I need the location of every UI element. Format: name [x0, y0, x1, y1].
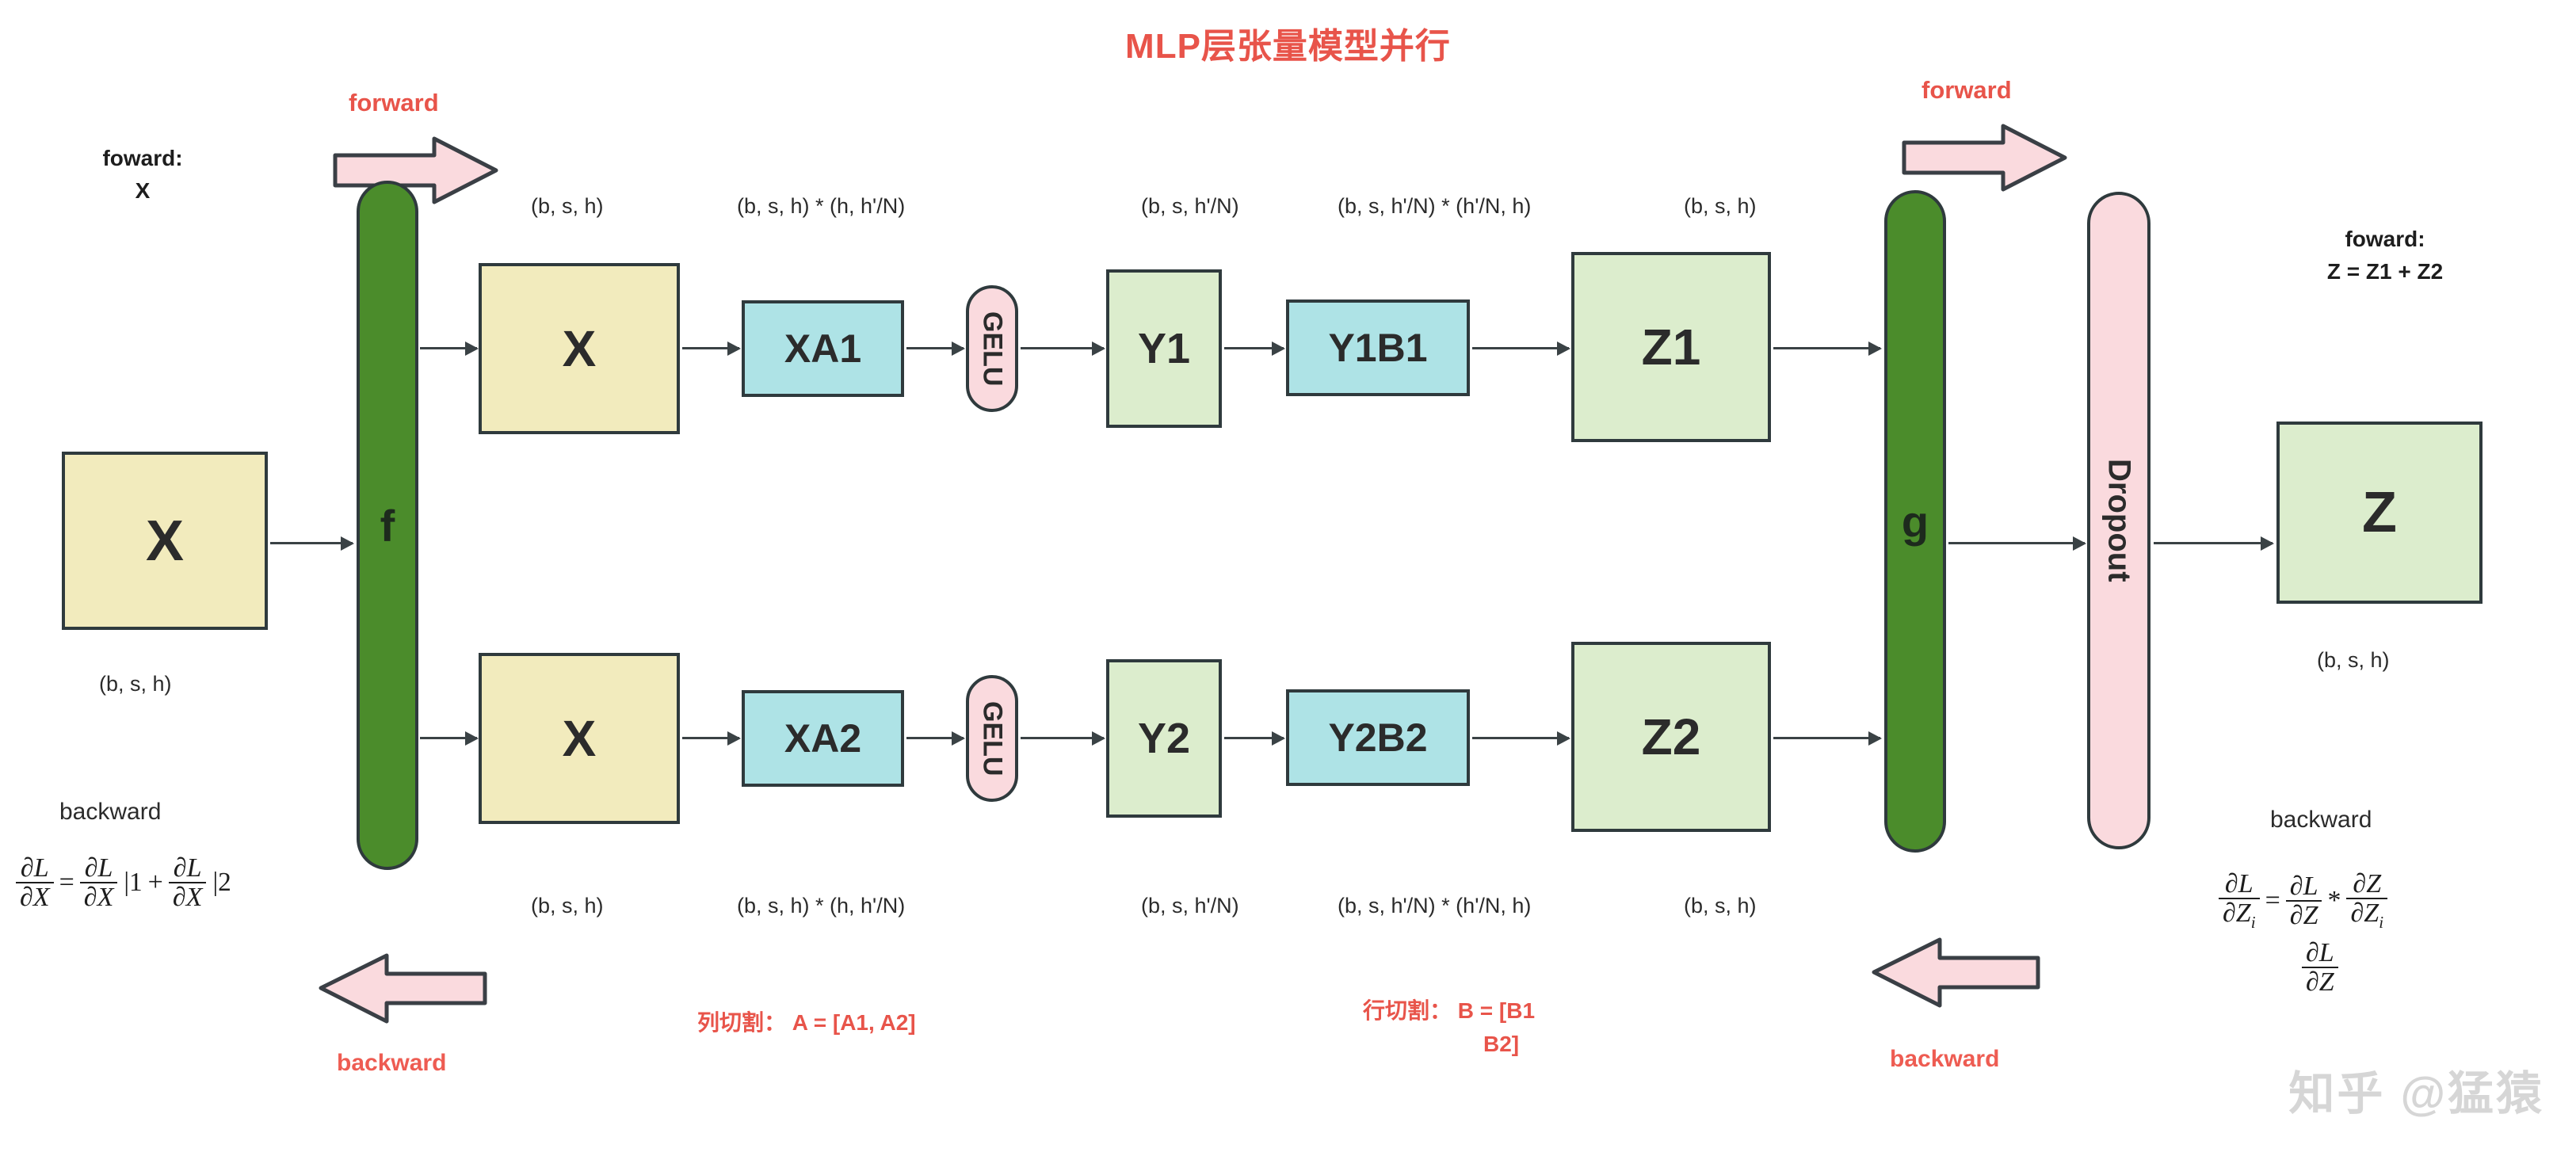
formula-left-lhs-num: ∂L — [17, 854, 53, 882]
arrow-row2-gelu-to-y2 — [1021, 737, 1104, 739]
arrow-row1-xa1-to-gelu — [906, 347, 964, 349]
formula-left-term1: ∂L ∂X — [80, 854, 118, 912]
formula-right-t2-den: ∂Z — [2350, 898, 2379, 928]
page-title: MLP层张量模型并行 — [0, 17, 2576, 68]
node-row2-x[interactable]: X — [479, 653, 680, 824]
shape-label-output-z: (b, s, h) — [2317, 648, 2390, 673]
node-row2-z[interactable]: Z2 — [1571, 642, 1771, 832]
shape-label-top-0: (b, s, h) — [531, 194, 604, 219]
backward-arrow-left-icon — [317, 951, 487, 1026]
node-row1-x[interactable]: X — [479, 263, 680, 434]
forward-label-right: forward — [1922, 76, 2012, 105]
row1-gelu-label: GELU — [977, 311, 1008, 386]
arrow-row1-x-to-xa1 — [682, 347, 739, 349]
node-f-gate[interactable]: f — [357, 181, 418, 870]
forward-output-note-line2: Z = Z1 + Z2 — [2254, 256, 2516, 288]
column-split-note: 列切割： A = [A1, A2] — [697, 1006, 916, 1040]
formula-right-lhs-num: ∂L — [2221, 870, 2257, 898]
formula-right: ∂L ∂Zi = ∂L ∂Z * ∂Z ∂Zi — [2219, 870, 2387, 932]
formula-right-t1-den: ∂Z — [2286, 900, 2322, 929]
forward-input-note: foward: X — [67, 143, 218, 207]
shape-label-input-x: (b, s, h) — [99, 672, 172, 696]
formula-right-eq: = — [2265, 886, 2280, 916]
row-split-note-line2: B2] — [1363, 1028, 1535, 1061]
shape-label-bottom-2: (b, s, h'/N) — [1141, 894, 1239, 918]
formula-right-t2-sub: i — [2379, 913, 2383, 932]
node-row2-gelu[interactable]: GELU — [966, 675, 1018, 802]
formula-left-eq: = — [59, 868, 74, 898]
formula-right-term2: ∂Z ∂Zi — [2346, 870, 2387, 932]
forward-input-note-line1: foward: — [67, 143, 218, 175]
formula-right-mul: * — [2327, 886, 2341, 916]
forward-output-note: foward: Z = Z1 + Z2 — [2254, 223, 2516, 288]
arrow-row2-x-to-xa2 — [682, 737, 739, 739]
watermark: 知乎 @猛猿 — [2288, 1056, 2544, 1123]
formula-right-line2-num: ∂L — [2302, 939, 2338, 967]
formula-left: ∂L ∂X = ∂L ∂X |1 + ∂L ∂X |2 — [16, 854, 231, 912]
formula-right-t2-num: ∂Z — [2349, 870, 2385, 898]
node-row1-xa[interactable]: XA1 — [742, 300, 904, 397]
arrow-x-to-f — [270, 542, 353, 544]
formula-right-lhs-den: ∂Z — [2223, 898, 2251, 928]
arrow-g-to-dropout — [1948, 542, 2085, 544]
formula-left-term2: ∂L ∂X — [169, 854, 207, 912]
node-input-x[interactable]: X — [62, 452, 268, 630]
node-row1-gelu[interactable]: GELU — [966, 285, 1018, 412]
arrow-f-to-x2 — [420, 737, 477, 739]
formula-right-line2-den: ∂Z — [2302, 967, 2338, 996]
forward-arrow-right-icon — [1902, 122, 2068, 193]
formula-left-plus: + — [148, 868, 163, 898]
formula-left-t2-num: ∂L — [170, 854, 206, 882]
shape-label-top-1: (b, s, h) * (h, h'/N) — [737, 194, 905, 219]
forward-label-left: forward — [349, 89, 439, 117]
formula-right-lhs-sub: i — [2251, 913, 2256, 932]
shape-label-bottom-0: (b, s, h) — [531, 894, 604, 918]
node-dropout[interactable]: Dropout — [2087, 192, 2150, 849]
arrow-dropout-to-z — [2154, 542, 2273, 544]
arrow-row2-y2-to-y2b2 — [1224, 737, 1284, 739]
node-row1-yb[interactable]: Y1B1 — [1286, 299, 1470, 396]
arrow-row1-y1b1-to-z1 — [1472, 347, 1569, 349]
formula-left-lhs: ∂L ∂X — [16, 854, 54, 912]
formula-left-t1-num: ∂L — [81, 854, 117, 882]
shape-label-top-4: (b, s, h) — [1684, 194, 1757, 219]
backward-label-left: backward — [337, 1050, 446, 1077]
shape-label-top-3: (b, s, h'/N) * (h'/N, h) — [1338, 194, 1531, 219]
f-gate-label: f — [380, 500, 395, 551]
arrow-z1-to-g — [1773, 347, 1880, 349]
arrow-row1-gelu-to-y1 — [1021, 347, 1104, 349]
formula-right-t1-num: ∂L — [2286, 872, 2322, 900]
arrow-row2-y2b2-to-z2 — [1472, 737, 1569, 739]
arrow-f-to-x1 — [420, 347, 477, 349]
arrow-row1-y1-to-y1b1 — [1224, 347, 1284, 349]
node-row1-z[interactable]: Z1 — [1571, 252, 1771, 442]
backward-arrow-right-icon — [1870, 935, 2040, 1010]
shape-label-bottom-4: (b, s, h) — [1684, 894, 1757, 918]
formula-right-term1: ∂L ∂Z — [2286, 872, 2322, 930]
node-g-gate[interactable]: g — [1884, 190, 1946, 853]
row-split-note-line1: 行切割： B = [B1 — [1363, 994, 1535, 1028]
shape-label-top-2: (b, s, h'/N) — [1141, 194, 1239, 219]
node-row1-y[interactable]: Y1 — [1106, 269, 1222, 428]
node-output-z[interactable]: Z — [2276, 422, 2483, 604]
formula-left-t1-bar: |1 — [123, 868, 142, 898]
backward-label-right: backward — [1890, 1046, 1999, 1073]
shape-label-bottom-1: (b, s, h) * (h, h'/N) — [737, 894, 905, 918]
arrow-row2-xa2-to-gelu — [906, 737, 964, 739]
node-row2-yb[interactable]: Y2B2 — [1286, 689, 1470, 786]
node-row2-xa[interactable]: XA2 — [742, 690, 904, 787]
formula-left-t2-den: ∂X — [169, 882, 207, 911]
forward-input-note-line2: X — [67, 175, 218, 208]
formula-left-t1-den: ∂X — [80, 882, 118, 911]
arrow-z2-to-g — [1773, 737, 1880, 739]
formula-left-t2-bar: |2 — [212, 868, 231, 898]
formula-left-lhs-den: ∂X — [16, 882, 54, 911]
row2-gelu-label: GELU — [977, 701, 1008, 776]
forward-output-note-line1: foward: — [2254, 223, 2516, 256]
forward-arrow-left-icon — [333, 135, 499, 206]
formula-right-line2: ∂L ∂Z — [2302, 939, 2338, 997]
backward-note-right: backward — [2270, 807, 2372, 834]
g-gate-label: g — [1902, 496, 1929, 547]
dropout-label: Dropout — [2101, 459, 2137, 582]
node-row2-y[interactable]: Y2 — [1106, 659, 1222, 818]
row-split-note: 行切割： B = [B1 B2] — [1363, 994, 1535, 1061]
formula-right-lhs: ∂L ∂Zi — [2219, 870, 2260, 932]
shape-label-bottom-3: (b, s, h'/N) * (h'/N, h) — [1338, 894, 1531, 918]
backward-note-left: backward — [59, 799, 161, 826]
